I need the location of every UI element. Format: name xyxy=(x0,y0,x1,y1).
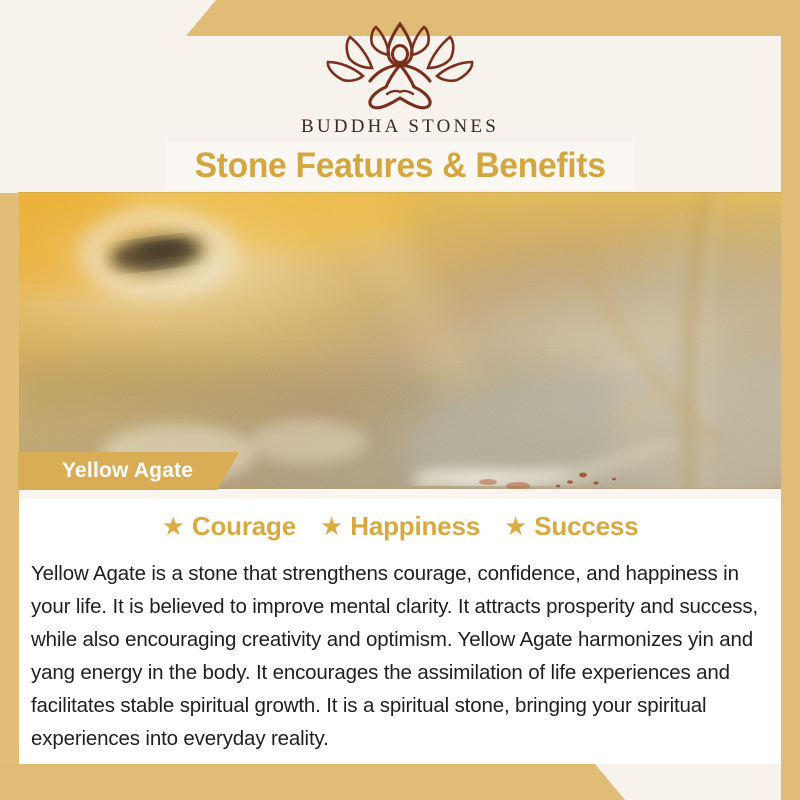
star-icon: ★ xyxy=(320,513,343,539)
feature-label: Success xyxy=(534,511,638,542)
card-top-highlight xyxy=(18,489,782,499)
stone-description: Yellow Agate is a stone that strengthens… xyxy=(31,557,775,755)
poster-root: BUDDHA STONES Stone Features & Benefits xyxy=(0,0,800,800)
feature-list: ★ Courage ★ Happiness ★ Success xyxy=(18,511,782,542)
brand-header: BUDDHA STONES xyxy=(0,22,800,138)
stone-name-label: Yellow Agate xyxy=(18,452,239,490)
content-card: ★ Courage ★ Happiness ★ Success Yellow A… xyxy=(18,489,782,764)
lotus-meditation-icon xyxy=(325,22,475,110)
feature-label: Happiness xyxy=(350,511,480,542)
brand-name: BUDDHA STONES xyxy=(0,116,800,138)
feature-item-success: ★ Success xyxy=(504,511,638,542)
star-icon: ★ xyxy=(162,513,185,539)
star-icon: ★ xyxy=(504,513,527,539)
decorative-band-bottom xyxy=(0,764,800,800)
stone-name-text: Yellow Agate xyxy=(62,459,193,483)
feature-item-happiness: ★ Happiness xyxy=(320,511,480,542)
page-title: Stone Features & Benefits xyxy=(194,146,605,186)
title-banner: Stone Features & Benefits xyxy=(165,142,635,190)
feature-label: Courage xyxy=(192,511,296,542)
decorative-band-left xyxy=(0,193,19,800)
feature-item-courage: ★ Courage xyxy=(162,511,296,542)
stone-image xyxy=(18,192,782,489)
